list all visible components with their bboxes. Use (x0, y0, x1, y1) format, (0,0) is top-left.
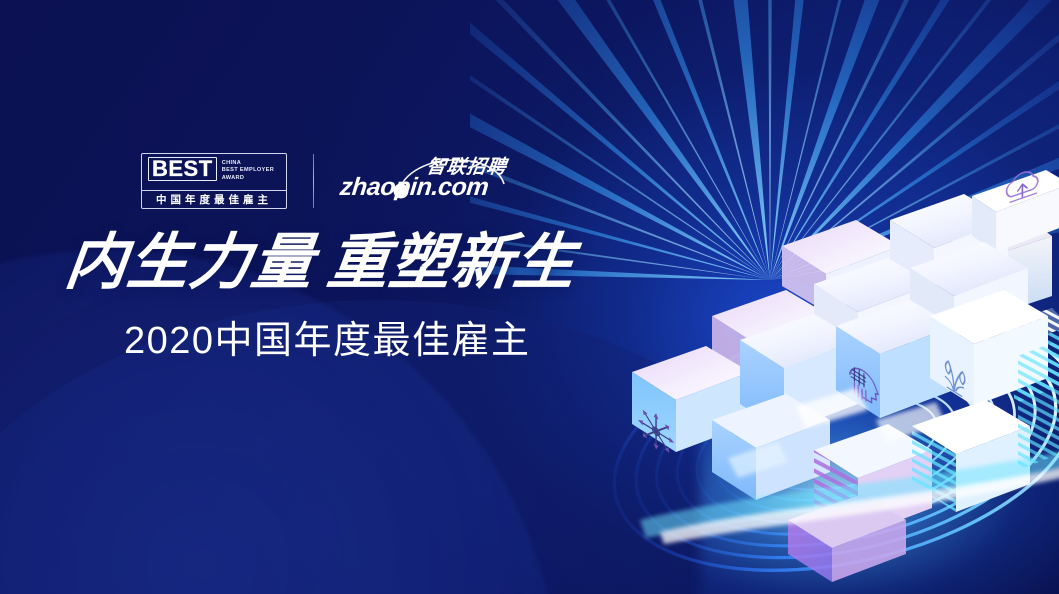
best-subtext-line3: AWARD (222, 175, 274, 182)
best-employer-logo[interactable]: BEST CHINA BEST EMPLOYER AWARD 中国年度最佳雇主 (141, 153, 287, 209)
zhaopin-latin: zhaopin.com (339, 173, 490, 202)
best-logo-chinese: 中国年度最佳雇主 (142, 190, 286, 208)
headline-part2: 重塑新生 (324, 228, 580, 296)
zhaopin-logo[interactable]: 智联招聘 zhaopin.com (340, 152, 508, 210)
logo-lockup: BEST CHINA BEST EMPLOYER AWARD 中国年度最佳雇主 … (141, 152, 508, 210)
best-logo-subtext: CHINA BEST EMPLOYER AWARD (222, 157, 274, 182)
best-wordmark: BEST (148, 157, 217, 181)
logo-divider (313, 154, 314, 208)
page-title: 内生力量重塑新生 (62, 228, 670, 296)
best-subtext-line1: CHINA (222, 160, 274, 167)
best-logo-top: BEST CHINA BEST EMPLOYER AWARD (146, 157, 282, 182)
headline-part1: 内生力量 (62, 228, 318, 296)
page-subtitle: 2020中国年度最佳雇主 (124, 317, 531, 365)
cube-striped-wedge (1018, 336, 1059, 470)
exploded-cube-graphic (600, 120, 1059, 590)
best-subtext-line2: BEST EMPLOYER (222, 167, 274, 174)
key-visual-canvas: BEST CHINA BEST EMPLOYER AWARD 中国年度最佳雇主 … (0, 0, 1059, 594)
